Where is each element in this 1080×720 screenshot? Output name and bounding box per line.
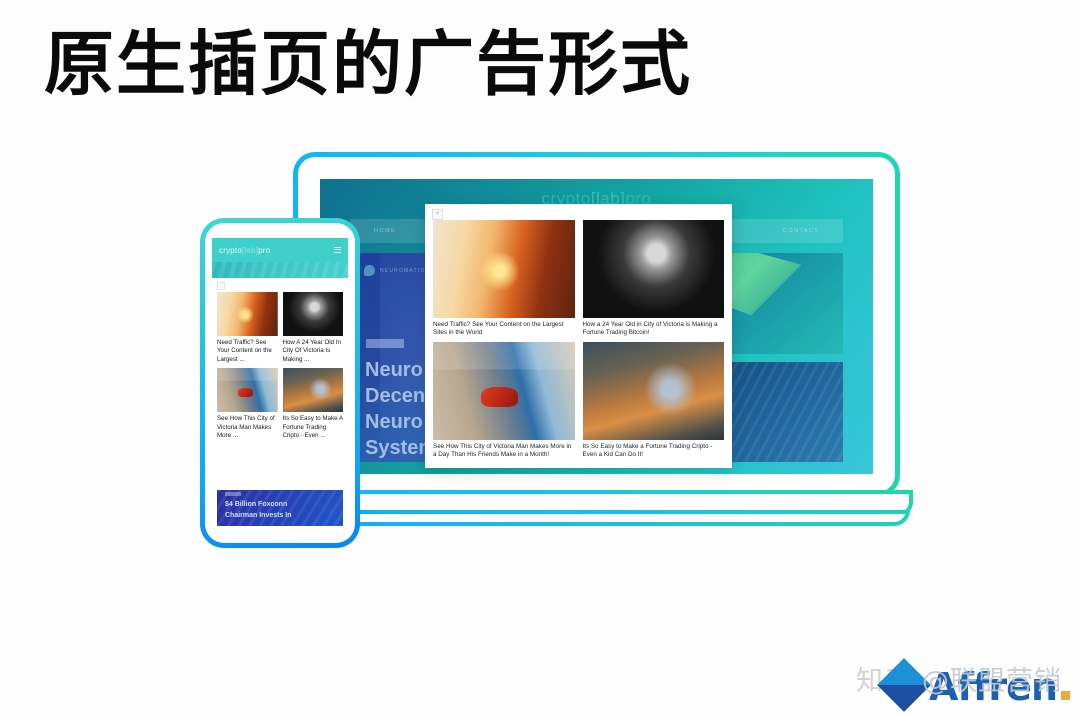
hamburger-icon[interactable] bbox=[334, 247, 341, 253]
phone-screen: crypto[lab]pro Need Traffic? See Your Co… bbox=[212, 238, 348, 526]
watermark-username: @联盟营销 bbox=[922, 659, 1062, 698]
nav-item-home[interactable]: HOME bbox=[374, 228, 396, 234]
phone-ad-grid: Need Traffic? See Your Content on the La… bbox=[212, 290, 348, 440]
poster-canvas: 原生插页的广告形式 crypto[lab]pro HOME CONTACT NE… bbox=[0, 0, 1080, 720]
phone-brand-suffix: pro bbox=[258, 246, 270, 255]
ad-item[interactable]: Its So Easy to Make a Fortune Trading Cr… bbox=[583, 342, 725, 460]
hero-logo: NEUROMATION bbox=[364, 265, 430, 276]
ad-caption: See How This City of Victoria Man Makes … bbox=[433, 440, 575, 460]
phone-bottom-banner[interactable]: $4 Billion Foxconn Chairman Invests In bbox=[217, 490, 343, 526]
nav-item-contact[interactable]: CONTACT bbox=[783, 228, 819, 234]
ad-thumbnail-kid bbox=[583, 342, 725, 440]
ad-caption: Its So Easy to Make a Fortune Trading Cr… bbox=[583, 440, 725, 460]
ad-item[interactable]: Its So Easy to Make A Fortune Trading Cr… bbox=[283, 368, 344, 440]
ad-caption: See How This City of Victoria Man Makes … bbox=[217, 412, 278, 440]
ad-item[interactable]: Need Traffic? See Your Content on the La… bbox=[433, 220, 575, 338]
laptop-base-foot bbox=[293, 510, 910, 526]
ad-thumbnail-phone bbox=[433, 220, 575, 318]
ad-caption: How A 24 Year Old In City Of Victoria Is… bbox=[283, 336, 344, 364]
ad-caption: Need Traffic? See Your Content on the La… bbox=[217, 336, 278, 364]
ad-caption: How a 24 Year Old in City of Victoria is… bbox=[583, 318, 725, 338]
brand-logo-dot bbox=[1061, 691, 1070, 700]
ad-thumbnail-phone bbox=[217, 292, 278, 336]
close-icon[interactable]: × bbox=[432, 209, 443, 220]
phone-mockup: crypto[lab]pro Need Traffic? See Your Co… bbox=[200, 218, 360, 548]
phone-brand-prefix: crypto bbox=[219, 246, 242, 255]
ad-thumbnail-man bbox=[583, 220, 725, 318]
overlay-ad-grid: Need Traffic? See Your Content on the La… bbox=[433, 220, 724, 460]
phone-ad-close-icon[interactable] bbox=[217, 282, 225, 290]
ad-item[interactable]: How a 24 Year Old in City of Victoria is… bbox=[583, 220, 725, 338]
native-interstitial-overlay[interactable]: × Need Traffic? See Your Content on the … bbox=[425, 204, 732, 468]
phone-app-header: crypto[lab]pro bbox=[212, 238, 348, 262]
banner-tag-chip bbox=[225, 492, 241, 496]
ad-item[interactable]: See How This City of Victoria Man Makes … bbox=[217, 368, 278, 440]
phone-site-brand: crypto[lab]pro bbox=[219, 246, 270, 255]
ad-caption: Its So Easy to Make A Fortune Trading Cr… bbox=[283, 412, 344, 440]
ad-thumbnail-man bbox=[283, 292, 344, 336]
banner-headline: $4 Billion Foxconn Chairman Invests In bbox=[225, 499, 337, 521]
bubble-icon bbox=[364, 265, 375, 276]
ad-thumbnail-room bbox=[217, 368, 278, 412]
ad-item[interactable]: See How This City of Victoria Man Makes … bbox=[433, 342, 575, 460]
ad-thumbnail-room bbox=[433, 342, 575, 440]
phone-brand-lab: [lab] bbox=[242, 246, 258, 255]
ad-thumbnail-kid bbox=[283, 368, 344, 412]
ad-caption: Need Traffic? See Your Content on the La… bbox=[433, 318, 575, 338]
ad-item[interactable]: Need Traffic? See Your Content on the La… bbox=[217, 292, 278, 364]
hero-logo-label: NEUROMATION bbox=[380, 268, 430, 274]
ad-item[interactable]: How A 24 Year Old In City Of Victoria Is… bbox=[283, 292, 344, 364]
hero-tag-chip bbox=[366, 339, 404, 348]
page-title: 原生插页的广告形式 bbox=[44, 24, 692, 104]
phone-hero-banner bbox=[212, 262, 348, 278]
